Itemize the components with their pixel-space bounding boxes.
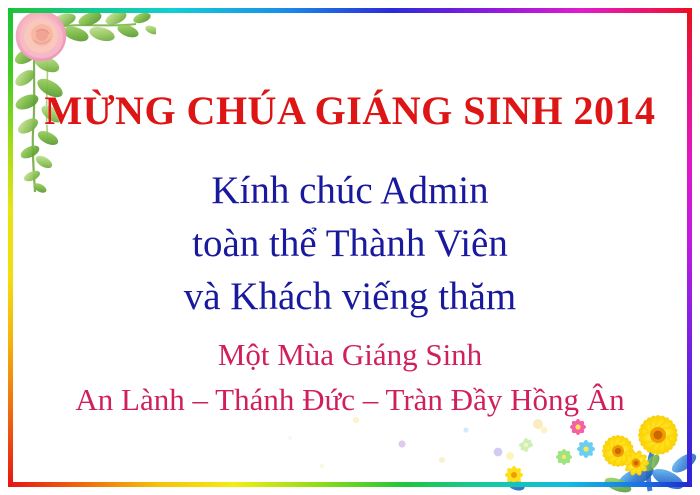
greeting-card: MỪNG CHÚA GIÁNG SINH 2014 Kính chúc Admi… — [0, 0, 700, 495]
card-title: MỪNG CHÚA GIÁNG SINH 2014 — [20, 88, 680, 134]
wish-line-2: An Lành – Thánh Đức – Tràn Đầy Hồng Ân — [20, 381, 680, 419]
greeting-line-1: Kính chúc Admin — [20, 168, 680, 214]
frame-border-left — [8, 8, 13, 487]
greeting-line-3: và Khách viếng thăm — [20, 274, 680, 320]
wish-line-1: Một Mùa Giáng Sinh — [20, 336, 680, 374]
card-text-block: MỪNG CHÚA GIÁNG SINH 2014 Kính chúc Admi… — [20, 18, 680, 478]
frame-border-right — [687, 8, 692, 487]
greeting-line-2: toàn thể Thành Viên — [20, 221, 680, 267]
frame-border-top — [8, 8, 692, 13]
frame-border-bottom — [8, 482, 692, 487]
